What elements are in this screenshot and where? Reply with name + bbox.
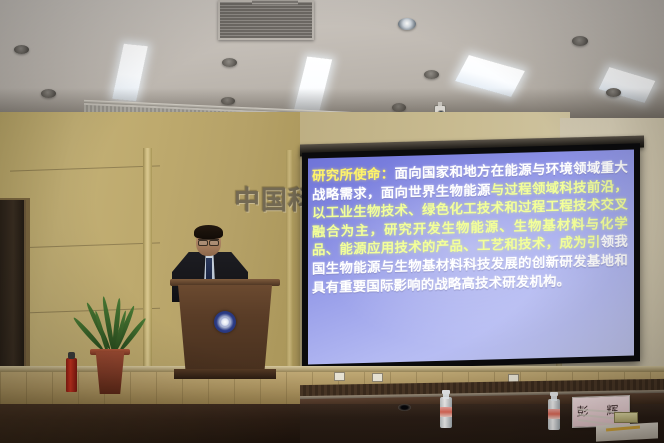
cas-institute-emblem-icon	[214, 311, 236, 333]
power-strip[interactable]	[614, 412, 638, 423]
ceiling-air-vent-secondary	[252, 0, 298, 5]
podium	[170, 279, 280, 389]
projector-screen-frame: 研究所使命：面向国家和地方在能源与环境领域重大战略需求，面向世界生物能源与过程领…	[302, 143, 640, 370]
recessed-downlight	[14, 45, 29, 54]
bottle-label	[548, 409, 560, 419]
speaker-glasses-icon	[198, 239, 219, 244]
wall-outlet[interactable]	[372, 373, 383, 382]
camera-mount	[438, 102, 442, 106]
wall-outlet[interactable]	[334, 372, 345, 381]
wall-pilaster	[143, 148, 152, 384]
recessed-downlight	[572, 36, 588, 46]
slide-line-1: 面向国家和地方在能源与	[394, 163, 545, 182]
table-cable-grommet	[398, 404, 411, 411]
recessed-downlight	[222, 58, 237, 67]
podium-base	[174, 369, 276, 379]
slide-heading: 研究所使命：	[312, 167, 394, 184]
water-bottle[interactable]	[548, 392, 560, 430]
ceiling-air-vent	[218, 0, 314, 40]
projected-slide: 研究所使命：面向国家和地方在能源与环境领域重大战略需求，面向世界生物能源与过程领…	[308, 149, 634, 364]
slide-text-block: 研究所使命：面向国家和地方在能源与环境领域重大战略需求，面向世界生物能源与过程领…	[312, 160, 628, 299]
recessed-downlight	[424, 70, 439, 79]
fire-extinguisher-handle	[68, 352, 75, 359]
bottle-label	[440, 407, 452, 417]
side-door[interactable]	[0, 200, 26, 386]
podium-body	[178, 285, 272, 371]
lecture-hall-photo: 中国科 研究所 研究所使命：面向国家和地方在能源与环境领域重大战略需求，面向世界…	[0, 0, 664, 443]
speaker-hair	[194, 225, 223, 239]
speaker-tie	[206, 258, 212, 280]
recessed-downlight	[398, 18, 416, 30]
fire-extinguisher[interactable]	[66, 358, 77, 392]
slide-line-9: 术研发机构。	[489, 274, 571, 291]
documents-stack[interactable]	[596, 422, 658, 441]
podium-top-surface	[170, 279, 280, 286]
bottle-cap	[550, 392, 558, 396]
water-bottle[interactable]	[440, 390, 452, 428]
bottle-cap	[442, 390, 450, 394]
